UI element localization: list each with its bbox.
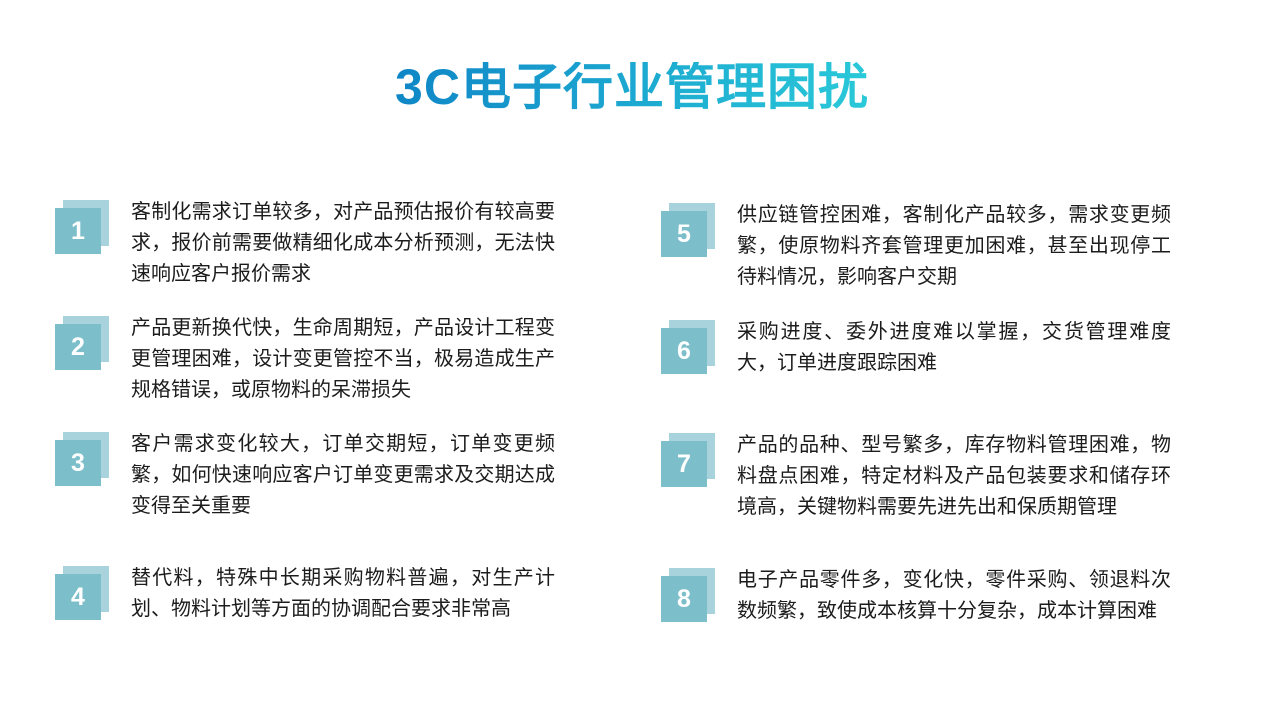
badge-number: 6 xyxy=(661,328,707,374)
item-text: 电子产品零件多，变化快，零件采购、领退料次数频繁，致使成本核算十分复杂，成本计算… xyxy=(737,565,1171,627)
number-badge: 7 xyxy=(661,433,715,487)
item-text: 客制化需求订单较多，对产品预估报价有较高要求，报价前需要做精细化成本分析预测，无… xyxy=(131,197,555,290)
number-badge: 3 xyxy=(55,432,109,486)
page-title: 3C电子行业管理困扰 xyxy=(395,62,869,112)
number-badge: 6 xyxy=(661,320,715,374)
item-text: 产品的品种、型号繁多，库存物料管理困难，物料盘点困难，特定材料及产品包装要求和储… xyxy=(737,430,1171,523)
right-column: 5 供应链管控困难，客制化产品较多，需求变更频繁，使原物料齐套管理更加困难，甚至… xyxy=(661,190,1241,690)
badge-number: 3 xyxy=(55,440,101,486)
title-container: 3C电子行业管理困扰 xyxy=(0,28,1264,145)
number-badge: 4 xyxy=(55,566,109,620)
slide-root: 3C电子行业管理困扰 1 客制化需求订单较多，对产品预估报价有较高要求，报价前需… xyxy=(0,0,1264,710)
content-columns: 1 客制化需求订单较多，对产品预估报价有较高要求，报价前需要做精细化成本分析预测… xyxy=(0,190,1264,690)
badge-number: 4 xyxy=(55,574,101,620)
number-badge: 8 xyxy=(661,568,715,622)
item-text: 替代料，特殊中长期采购物料普遍，对生产计划、物料计划等方面的协调配合要求非常高 xyxy=(131,563,555,625)
item-text: 产品更新换代快，生命周期短，产品设计工程变更管理困难，设计变更管控不当，极易造成… xyxy=(131,313,555,406)
number-badge: 1 xyxy=(55,200,109,254)
item-text: 客户需求变化较大，订单交期短，订单变更频繁，如何快速响应客户订单变更需求及交期达… xyxy=(131,429,555,522)
item-text: 采购进度、委外进度难以掌握，交货管理难度大，订单进度跟踪困难 xyxy=(737,317,1171,379)
badge-number: 5 xyxy=(661,211,707,257)
badge-number: 8 xyxy=(661,576,707,622)
number-badge: 5 xyxy=(661,203,715,257)
left-column: 1 客制化需求订单较多，对产品预估报价有较高要求，报价前需要做精细化成本分析预测… xyxy=(55,190,635,690)
badge-number: 7 xyxy=(661,441,707,487)
number-badge: 2 xyxy=(55,316,109,370)
badge-number: 1 xyxy=(55,208,101,254)
item-text: 供应链管控困难，客制化产品较多，需求变更频繁，使原物料齐套管理更加困难，甚至出现… xyxy=(737,200,1171,293)
badge-number: 2 xyxy=(55,324,101,370)
